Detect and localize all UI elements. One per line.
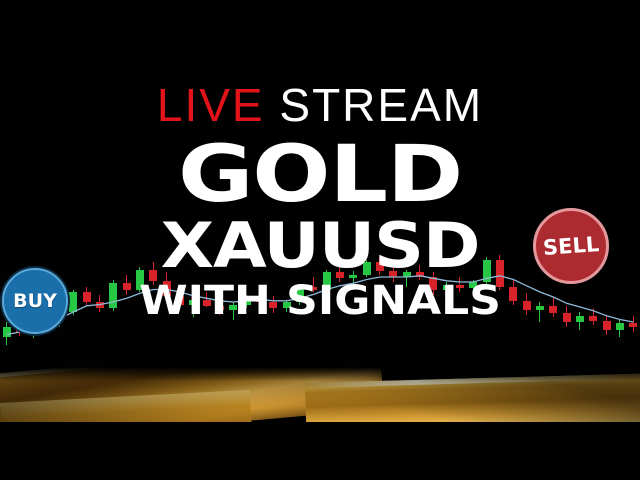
letterbox-bottom [0, 422, 640, 480]
sell-badge-label: SELL [542, 232, 600, 260]
buy-badge-label: BUY [13, 290, 57, 312]
buy-badge[interactable]: BUY [2, 268, 68, 334]
sell-badge[interactable]: SELL [533, 208, 609, 284]
gold-bars-photo [0, 367, 640, 422]
letterbox-top [0, 0, 640, 27]
youtube-thumbnail: LIVE STREAM GOLD XAUUSD WITH SIGNALS BUY… [0, 0, 640, 480]
